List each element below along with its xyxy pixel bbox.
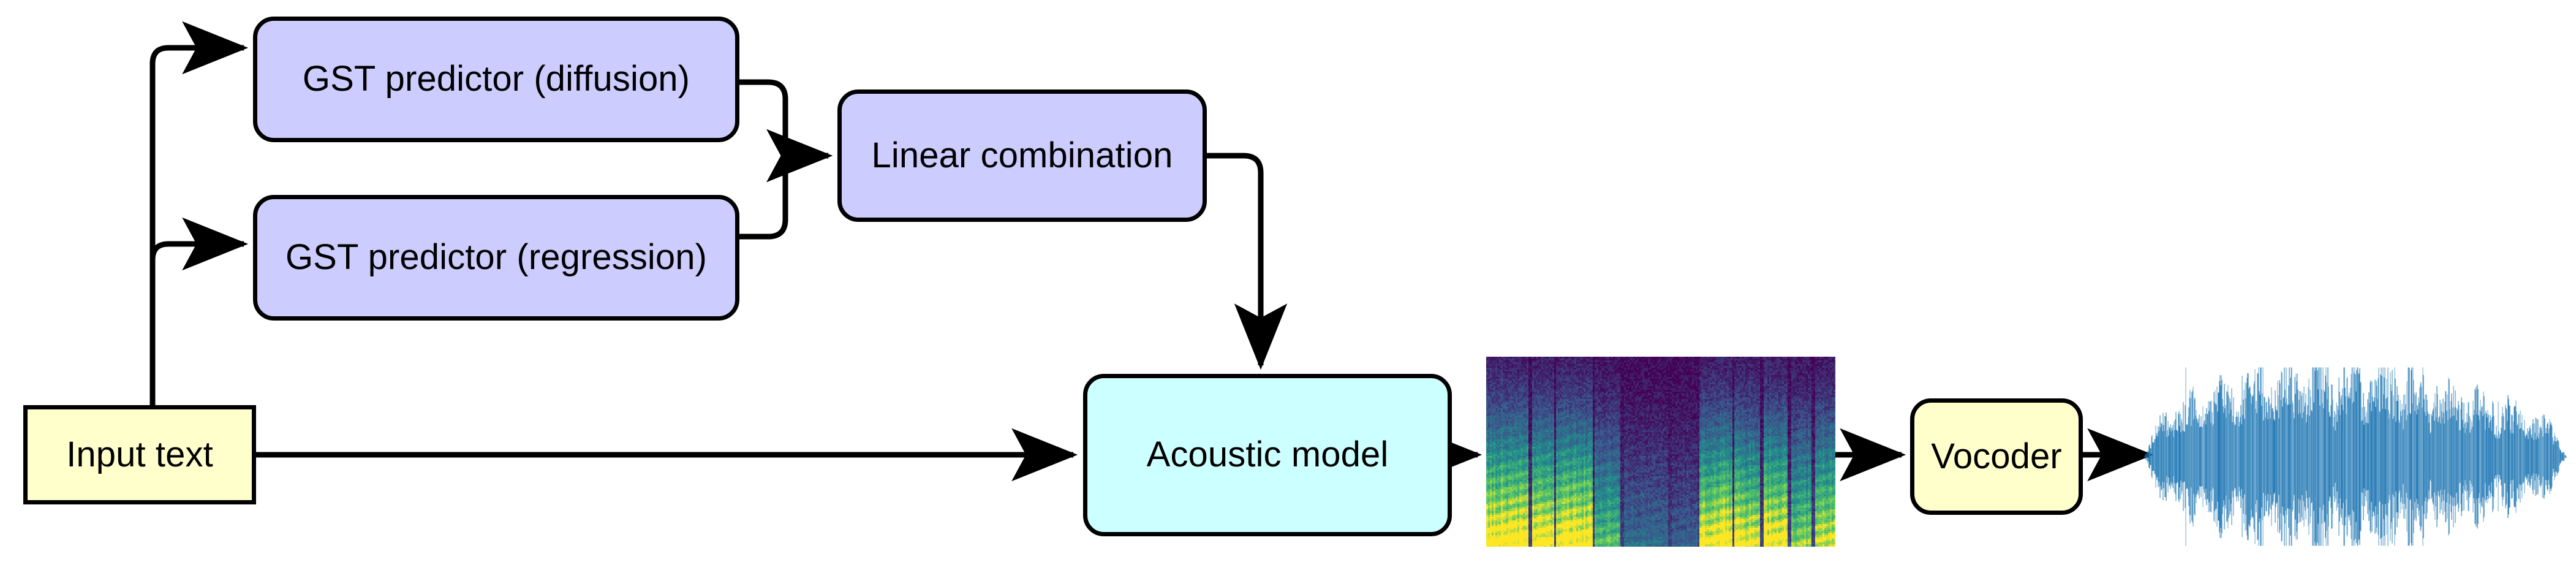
edge-gst-diffusion-to-linear-combination [739, 82, 828, 156]
node-acoustic-model[interactable]: Acoustic model [1083, 374, 1452, 536]
mel-spectrogram-image [1486, 357, 1835, 547]
node-vocoder-label: Vocoder [1931, 438, 2062, 476]
node-acoustic-model-label: Acoustic model [1147, 436, 1389, 474]
diagram-canvas: Input text GST predictor (diffusion) GST… [0, 0, 2576, 570]
node-vocoder[interactable]: Vocoder [1910, 398, 2083, 515]
edge-input-to-gst-regression [153, 244, 244, 405]
node-gst-predictor-diffusion-label: GST predictor (diffusion) [303, 61, 690, 98]
node-linear-combination-label: Linear combination [872, 137, 1173, 175]
node-linear-combination[interactable]: Linear combination [837, 89, 1207, 222]
audio-waveform-image [2144, 365, 2567, 549]
edge-gst-regression-to-linear-combination [739, 156, 828, 237]
node-input-text-label: Input text [66, 436, 213, 474]
edge-linear-combination-to-acoustic-model [1207, 156, 1261, 365]
edge-input-to-gst-diffusion [153, 48, 244, 405]
node-gst-predictor-diffusion[interactable]: GST predictor (diffusion) [253, 17, 739, 142]
node-input-text[interactable]: Input text [23, 405, 256, 504]
node-gst-predictor-regression[interactable]: GST predictor (regression) [253, 195, 739, 321]
node-gst-predictor-regression-label: GST predictor (regression) [285, 239, 707, 276]
